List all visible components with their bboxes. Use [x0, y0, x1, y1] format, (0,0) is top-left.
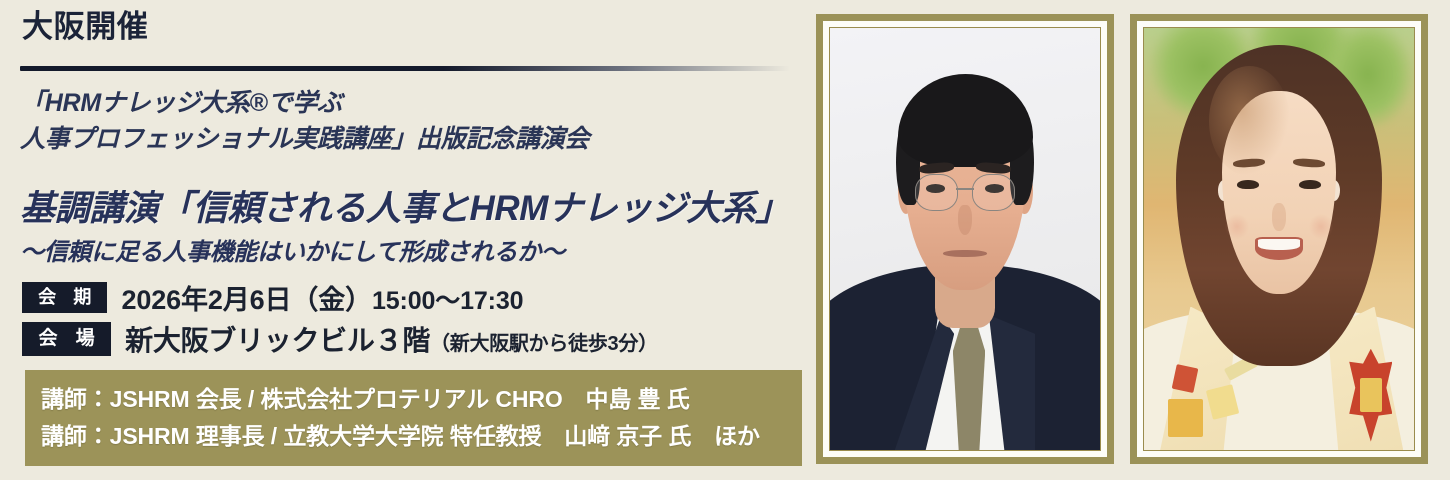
badge-venue-label: 会 場	[22, 322, 111, 356]
portrait-inner-border	[829, 27, 1101, 451]
info-row-date: 会 期 2026年2月6日（金）15:00〜17:30	[22, 278, 523, 317]
portrait-frame-nakajima	[816, 14, 1114, 464]
poster-kicker: 大阪開催	[22, 8, 148, 45]
speaker-line-1: 講師：JSHRM 会長 / 株式会社プロテリアル CHRO 中島 豊 氏	[41, 381, 802, 418]
event-poster: 大阪開催 「HRMナレッジ大系®で学ぶ 人事プロフェッショナル実践講座」出版記念…	[0, 0, 1450, 480]
venue-note: （新大阪駅から徒歩3分）	[430, 333, 658, 355]
portrait-mat	[1137, 21, 1421, 457]
time-text: 15:00〜17:30	[372, 287, 523, 315]
keynote-title: 基調講演「信頼される人事とHRMナレッジ大系」	[20, 180, 790, 231]
date-text: 2026年2月6日（金）	[121, 285, 371, 315]
venue-text: 新大阪ブリックビル３階	[125, 325, 430, 356]
poster-text-column: 大阪開催 「HRMナレッジ大系®で学ぶ 人事プロフェッショナル実践講座」出版記念…	[0, 0, 812, 480]
badge-date-label: 会 期	[22, 282, 107, 313]
poster-subtitle: 「HRMナレッジ大系®で学ぶ 人事プロフェッショナル実践講座」出版記念講演会	[20, 86, 589, 157]
keynote-subtitle: 〜信頼に足る人事機能はいかにして形成されるか〜	[20, 232, 565, 267]
info-row-venue: 会 場 新大阪ブリックビル３階（新大阪駅から徒歩3分）	[22, 319, 658, 359]
portrait-inner-border	[1143, 27, 1415, 451]
header-divider	[20, 66, 790, 71]
speaker-line-2: 講師：JSHRM 理事長 / 立教大学大学院 特任教授 山﨑 京子 氏 ほか	[41, 418, 802, 455]
portrait-photo-yamazaki	[1144, 28, 1414, 450]
date-value: 2026年2月6日（金）15:00〜17:30	[121, 278, 523, 317]
portrait-mat	[823, 21, 1107, 457]
portrait-frame-yamazaki	[1130, 14, 1428, 464]
venue-value: 新大阪ブリックビル３階（新大阪駅から徒歩3分）	[125, 319, 658, 359]
speaker-bar: 講師：JSHRM 会長 / 株式会社プロテリアル CHRO 中島 豊 氏 講師：…	[25, 370, 802, 466]
portrait-photo-nakajima	[830, 28, 1100, 450]
